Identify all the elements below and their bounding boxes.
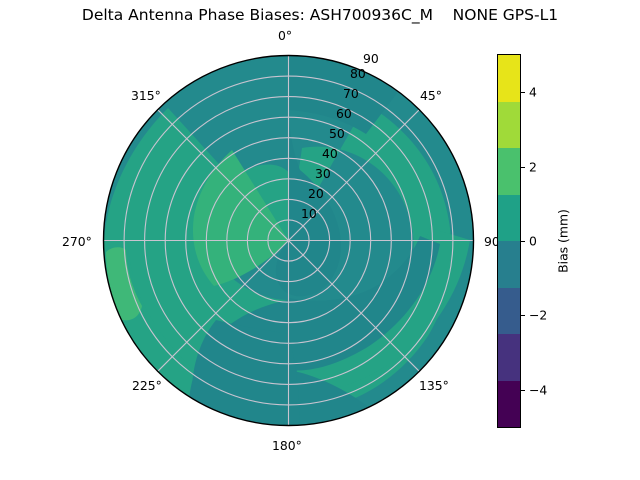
colorbar-tick-label-2: 0 [529,234,537,249]
radial-label-70: 70 [343,86,359,101]
colorbar-tick-4 [521,92,525,93]
radial-label-30: 30 [315,166,331,181]
azimuth-label-225: 225° [132,378,162,393]
colorbar-band-7 [498,381,520,428]
colorbar-tick-label-0: −4 [529,382,547,397]
polar-angular-grid [104,56,474,426]
colorbar-band-6 [498,334,520,381]
colorbar-tick-0 [521,390,525,391]
radial-label-20: 20 [308,186,324,201]
colorbar-tick-1 [521,315,525,316]
azimuth-label-270: 270° [62,234,92,249]
colorbar: Bias (mm) −4−2024 [497,54,617,428]
colorbar-gradient [497,54,521,428]
colorbar-band-4 [498,241,520,288]
colorbar-band-2 [498,148,520,195]
colorbar-tick-3 [521,167,525,168]
colorbar-band-5 [498,288,520,335]
colorbar-band-0 [498,55,520,102]
azimuth-label-0: 0° [278,28,292,43]
colorbar-tick-label-1: −2 [529,308,547,323]
figure-canvas: Delta Antenna Phase Biases: ASH700936C_M… [0,0,640,480]
azimuth-label-135: 135° [419,378,449,393]
radial-label-50: 50 [329,126,345,141]
colorbar-tick-label-3: 2 [529,159,537,174]
colorbar-tick-2 [521,241,525,242]
radial-label-60: 60 [336,106,352,121]
azimuth-label-180: 180° [272,438,302,453]
radial-label-90: 90 [363,51,379,66]
radial-label-40: 40 [322,146,338,161]
azimuth-label-45: 45° [420,88,442,103]
azimuth-label-315: 315° [131,88,161,103]
colorbar-title: Bias (mm) [556,209,571,273]
region-teal-sw-inner [192,320,300,426]
colorbar-band-1 [498,102,520,149]
radial-label-80: 80 [350,66,366,81]
colorbar-band-3 [498,195,520,242]
radial-label-10: 10 [301,206,317,221]
colorbar-tick-label-4: 4 [529,85,537,100]
